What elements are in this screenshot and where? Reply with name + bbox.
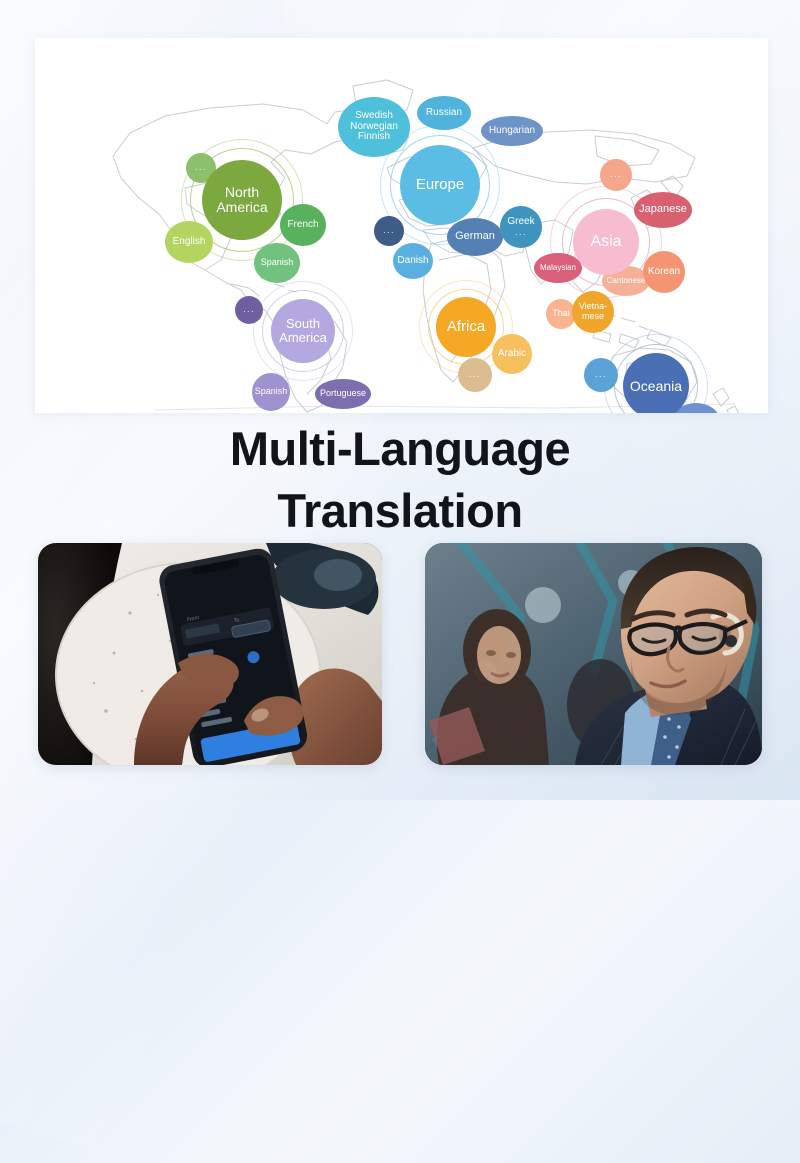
continent-label-line: Asia xyxy=(590,234,621,251)
bubble-label-line: Spanish xyxy=(261,258,294,268)
continent-label-line: South xyxy=(286,317,320,331)
svg-text:To: To xyxy=(233,617,240,624)
more-dots-icon: ... xyxy=(610,170,622,180)
language-bubble-spanish[interactable]: Spanish xyxy=(252,373,290,411)
language-bubble-portuguese[interactable]: Portuguese xyxy=(315,379,371,409)
continent-bubble-africa[interactable]: Africa xyxy=(436,297,496,357)
continent-bubble-south-america[interactable]: SouthAmerica xyxy=(271,299,335,363)
bubble-label-line: Hungarian xyxy=(489,126,535,137)
continent-label-line: America xyxy=(216,200,267,215)
bubble-label-line: Finnish xyxy=(358,132,390,143)
continent-label-line: America xyxy=(279,331,327,345)
more-dots-icon: ... xyxy=(595,370,607,380)
language-bubble-hungarian[interactable]: Hungarian xyxy=(481,116,543,146)
continent-label-line: North xyxy=(225,185,259,200)
more-dots-icon: ... xyxy=(469,370,481,380)
language-bubble-more-asia[interactable]: ... xyxy=(600,159,632,191)
continent-bubble-asia[interactable]: Asia xyxy=(573,209,639,275)
bubble-label-line: Spanish xyxy=(255,387,288,397)
bubble-label-line: Thai xyxy=(552,309,570,319)
language-bubble-korean[interactable]: Korean xyxy=(643,251,685,293)
bubble-label-line: Korean xyxy=(648,267,680,278)
language-bubble-danish[interactable]: Danish xyxy=(393,243,433,279)
bubble-label-line: Danish xyxy=(397,256,428,267)
language-bubble-more-europe[interactable]: ... xyxy=(374,216,404,246)
language-bubble-russian[interactable]: Russian xyxy=(417,96,471,130)
photo-businessman-earbud xyxy=(425,543,762,765)
photo-phone-translation-app: From To xyxy=(38,543,382,765)
continent-bubble-europe[interactable]: Europe xyxy=(400,145,480,225)
language-bubble-spanish[interactable]: Spanish xyxy=(254,243,300,283)
continent-label-line: Africa xyxy=(447,319,485,335)
page-title: Multi-Language Translation xyxy=(0,418,800,542)
bubble-label-line: mese xyxy=(582,312,604,322)
bubble-label-line: Malaysian xyxy=(540,264,576,272)
language-bubble-swedish-norwegian-finnish[interactable]: SwedishNorwegianFinnish xyxy=(338,97,410,157)
language-bubble-french[interactable]: French xyxy=(280,204,326,246)
bubble-label-line: Japanese xyxy=(639,204,687,216)
continent-label-line: Oceania xyxy=(630,379,682,394)
continent-bubble-oceania[interactable]: Oceania xyxy=(623,353,689,413)
language-bubble-greek[interactable]: Greek... xyxy=(500,206,542,248)
page-title-line-1: Multi-Language xyxy=(0,418,800,480)
more-dots-icon: ... xyxy=(243,305,255,315)
language-bubble-more-oceania[interactable]: ... xyxy=(584,358,618,392)
language-bubble-arabic[interactable]: Arabic xyxy=(492,334,532,374)
bubble-label-line: Greek xyxy=(507,217,534,228)
language-bubble-more-south-america[interactable]: ... xyxy=(235,296,263,324)
language-bubble-vietna-mese[interactable]: Vietna-mese xyxy=(572,291,614,333)
language-bubble-malaysian[interactable]: Malaysian xyxy=(534,253,582,283)
more-dots-icon: ... xyxy=(515,228,527,238)
language-bubble-english[interactable]: English xyxy=(165,221,213,263)
page-title-line-2: Translation xyxy=(0,480,800,542)
language-bubble-more-africa[interactable]: ... xyxy=(458,358,492,392)
bubble-label-line: German xyxy=(455,231,495,243)
bubble-label-line: Arabic xyxy=(498,349,526,360)
world-map-panel: ...EnglishFrenchSpanishNorthAmericaSwedi… xyxy=(35,38,768,413)
more-dots-icon: ... xyxy=(195,163,207,173)
bubble-label-line: French xyxy=(287,220,318,231)
bubble-label-line: Russian xyxy=(426,108,462,119)
continent-label-line: Europe xyxy=(416,177,464,193)
language-bubble-layer: ...EnglishFrenchSpanishNorthAmericaSwedi… xyxy=(35,38,768,413)
language-bubble-japanese[interactable]: Japanese xyxy=(634,192,692,228)
continent-bubble-north-america[interactable]: NorthAmerica xyxy=(202,160,282,240)
bubble-label-line: Cantonese xyxy=(607,277,646,285)
bubble-label-line: Portuguese xyxy=(320,389,366,399)
language-bubble-german[interactable]: German xyxy=(447,218,503,256)
more-dots-icon: ... xyxy=(383,226,395,236)
bubble-label-line: English xyxy=(173,237,206,248)
